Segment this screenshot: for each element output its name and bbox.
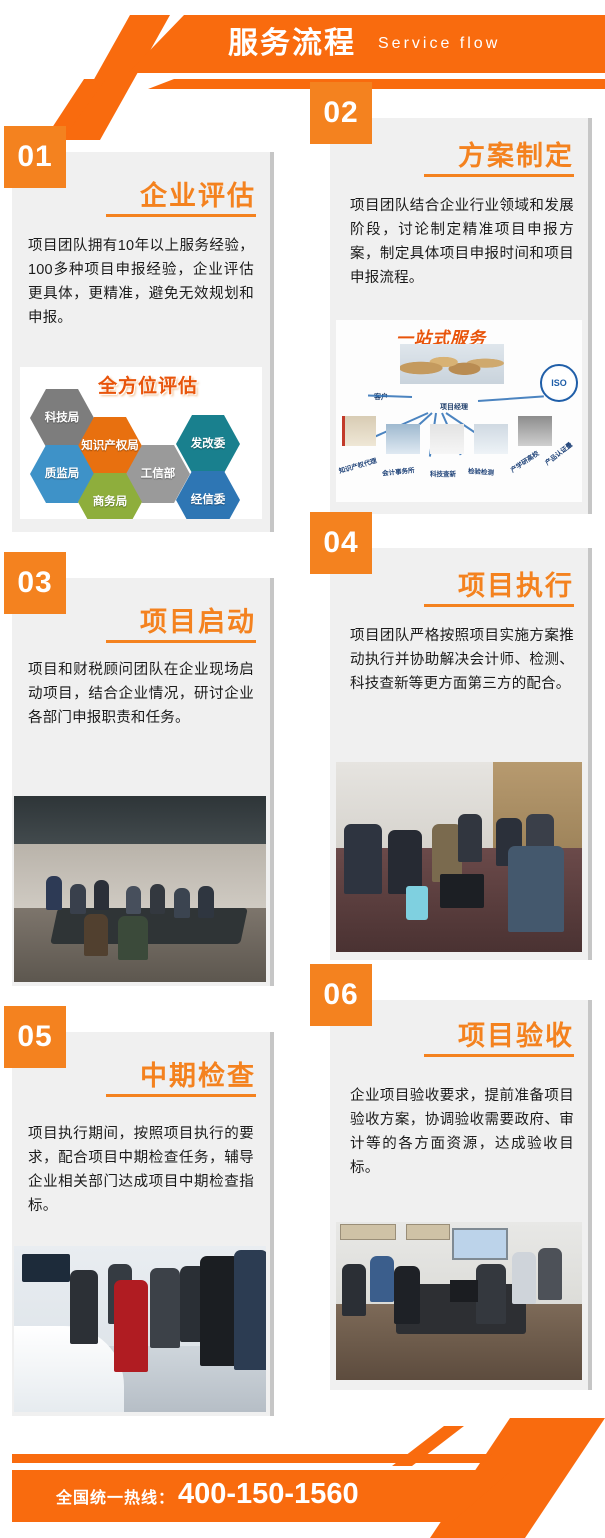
card-title-04: 项目执行	[458, 564, 574, 603]
one-stop-service-center-photo	[400, 344, 504, 384]
card-title-06: 项目验收	[458, 1014, 574, 1053]
hexagon-diagram-heading: 全方位评估	[98, 371, 198, 398]
thumb-accounting-firm	[386, 424, 420, 454]
page-subtitle: Service flow	[378, 35, 500, 53]
photo-working-session-04	[336, 762, 582, 952]
photo-person	[538, 1248, 562, 1300]
photo-certificate-frames	[406, 1224, 450, 1240]
card-title-03: 项目启动	[140, 600, 256, 639]
card-title-02: 方案制定	[458, 134, 574, 173]
photo-projection-screen	[452, 1228, 508, 1260]
card-description-03: 项目和财税顾问团队在企业现场启动项目，结合企业情况，研讨企业各部门申报职责和任务…	[28, 658, 254, 730]
hexagon-node-label: 经信委	[191, 494, 226, 507]
photo-acceptance-meeting-06	[336, 1222, 582, 1380]
flow-arrow	[478, 395, 544, 402]
step-badge-05: 05	[4, 1006, 66, 1068]
hotline-label: 全国统一热线：	[56, 1484, 175, 1508]
photo-person	[342, 1264, 366, 1316]
card-description-05: 项目执行期间，按照项目执行的要求，配合项目中期检查任务，辅导企业相关部门达成项目…	[28, 1122, 254, 1218]
photo-person	[512, 1252, 536, 1304]
page-title: 服务流程	[228, 24, 356, 64]
photo-thermos	[406, 886, 428, 920]
one-stop-bottom-label: 检验检测	[468, 465, 495, 477]
thumb-ip-agency	[342, 416, 376, 446]
photo-person	[150, 884, 165, 914]
page-header: 服务流程 Service flow	[0, 0, 605, 110]
process-card-01: 01 企业评估 项目团队拥有10年以上服务经验，100多种项目申报经验，企业评估…	[12, 152, 270, 532]
photo-person	[198, 886, 214, 918]
photo-ceiling	[14, 796, 266, 844]
photo-person	[476, 1264, 506, 1324]
hexagon-node-label: 知识产权局	[81, 440, 139, 453]
process-card-04: 04 项目执行 项目团队严格按照项目实施方案推动执行并协助解决会计师、检测、科技…	[330, 548, 588, 960]
hexagon-node-fagaiwei: 发改委	[176, 415, 240, 473]
hexagon-node-label: 科技局	[45, 412, 80, 425]
photo-person	[118, 916, 148, 960]
photo-laptop	[440, 874, 484, 908]
thumb-inspection-testing	[474, 424, 508, 454]
iso-certification-seal: ISO	[540, 364, 578, 402]
card-title-05: 中期检查	[140, 1054, 256, 1093]
photo-person	[234, 1250, 266, 1370]
card-description-06: 企业项目验收要求，提前准备项目验收方案，协调验收需要政府、审计等的各方面资源，达…	[350, 1084, 574, 1180]
process-card-02: 02 方案制定 项目团队结合企业行业领域和发展阶段，讨论制定精准项目申报方案，制…	[330, 118, 588, 514]
process-card-03: 03 项目启动 项目和财税顾问团队在企业现场启动项目，结合企业情况，研讨企业各部…	[12, 578, 270, 986]
one-stop-label-project-manager: 项目经理	[440, 402, 468, 412]
title-underline-02	[424, 174, 574, 177]
photo-laptop	[450, 1280, 478, 1302]
photo-person	[344, 824, 382, 894]
photo-person	[150, 1268, 180, 1348]
card-description-01: 项目团队拥有10年以上服务经验，100多种项目申报经验，企业评估更具体，更精准，…	[28, 234, 254, 330]
photo-person	[174, 888, 190, 918]
photo-person	[458, 814, 482, 862]
process-card-05: 05 中期检查 项目执行期间，按照项目执行的要求，配合项目中期检查任务，辅导企业…	[12, 1032, 270, 1416]
photo-person	[94, 880, 109, 910]
photo-person	[70, 1270, 98, 1344]
title-underline-01	[106, 214, 256, 217]
one-stop-service-diagram: 一站式服务 客户 项目经理 ISO 知识产权代理 会计事务所 科技查新 检验检测…	[336, 320, 582, 502]
one-stop-bottom-label: 产学研高校	[508, 448, 541, 474]
one-stop-bottom-label: 知识产权代理	[337, 455, 377, 475]
thumb-university-research	[518, 416, 552, 446]
hexagon-assessment-diagram: 全方位评估 科技局 知识产权局 质监局 工信部 商务局 发改委 经信委	[20, 367, 262, 519]
photo-meeting-room-03	[14, 796, 266, 982]
header-banner	[128, 15, 605, 73]
step-badge-03: 03	[4, 552, 66, 614]
process-card-06: 06 项目验收 企业项目验收要求，提前准备项目验收方案，协调验收需要政府、审计等…	[330, 1000, 588, 1390]
title-underline-06	[424, 1054, 574, 1057]
step-badge-04: 04	[310, 512, 372, 574]
photo-person	[84, 914, 108, 956]
header-diagonal-large	[60, 15, 170, 140]
photo-person	[46, 876, 62, 910]
title-underline-05	[106, 1094, 256, 1097]
page-footer: 全国统一热线： 400-150-1560	[0, 1418, 605, 1538]
photo-person	[370, 1256, 394, 1302]
step-badge-02: 02	[310, 82, 372, 144]
title-underline-03	[106, 640, 256, 643]
card-title-01: 企业评估	[140, 174, 256, 213]
photo-person	[70, 884, 86, 914]
photo-showroom-tour-05	[14, 1246, 266, 1412]
photo-certificate-frames	[340, 1224, 396, 1240]
thumb-sci-tech-search	[430, 424, 464, 454]
iso-seal-label: ISO	[551, 378, 567, 388]
card-description-04: 项目团队严格按照项目实施方案推动执行并协助解决会计师、检测、科技查新等更方面第三…	[350, 624, 574, 696]
photo-display-screen	[22, 1254, 70, 1282]
photo-person	[508, 846, 564, 932]
step-badge-01: 01	[4, 126, 66, 188]
photo-person	[394, 1266, 420, 1324]
one-stop-bottom-label: 会计事务所	[382, 464, 415, 477]
hexagon-node-label: 质监局	[45, 468, 80, 481]
hexagon-node-label: 商务局	[93, 496, 128, 509]
title-underline-04	[424, 604, 574, 607]
card-description-02: 项目团队结合企业行业领域和发展阶段，讨论制定精准项目申报方案，制定具体项目申报时…	[350, 194, 574, 290]
footer-stripe	[12, 1454, 492, 1463]
step-badge-06: 06	[310, 964, 372, 1026]
photo-person	[114, 1280, 148, 1372]
hexagon-node-label: 工信部	[141, 468, 176, 481]
header-stripe	[148, 79, 605, 89]
hotline-number[interactable]: 400-150-1560	[178, 1478, 359, 1511]
hexagon-node-label: 发改委	[191, 438, 226, 451]
photo-person	[126, 886, 141, 914]
photo-person	[388, 830, 422, 894]
one-stop-bottom-label: 科技查新	[430, 468, 456, 478]
